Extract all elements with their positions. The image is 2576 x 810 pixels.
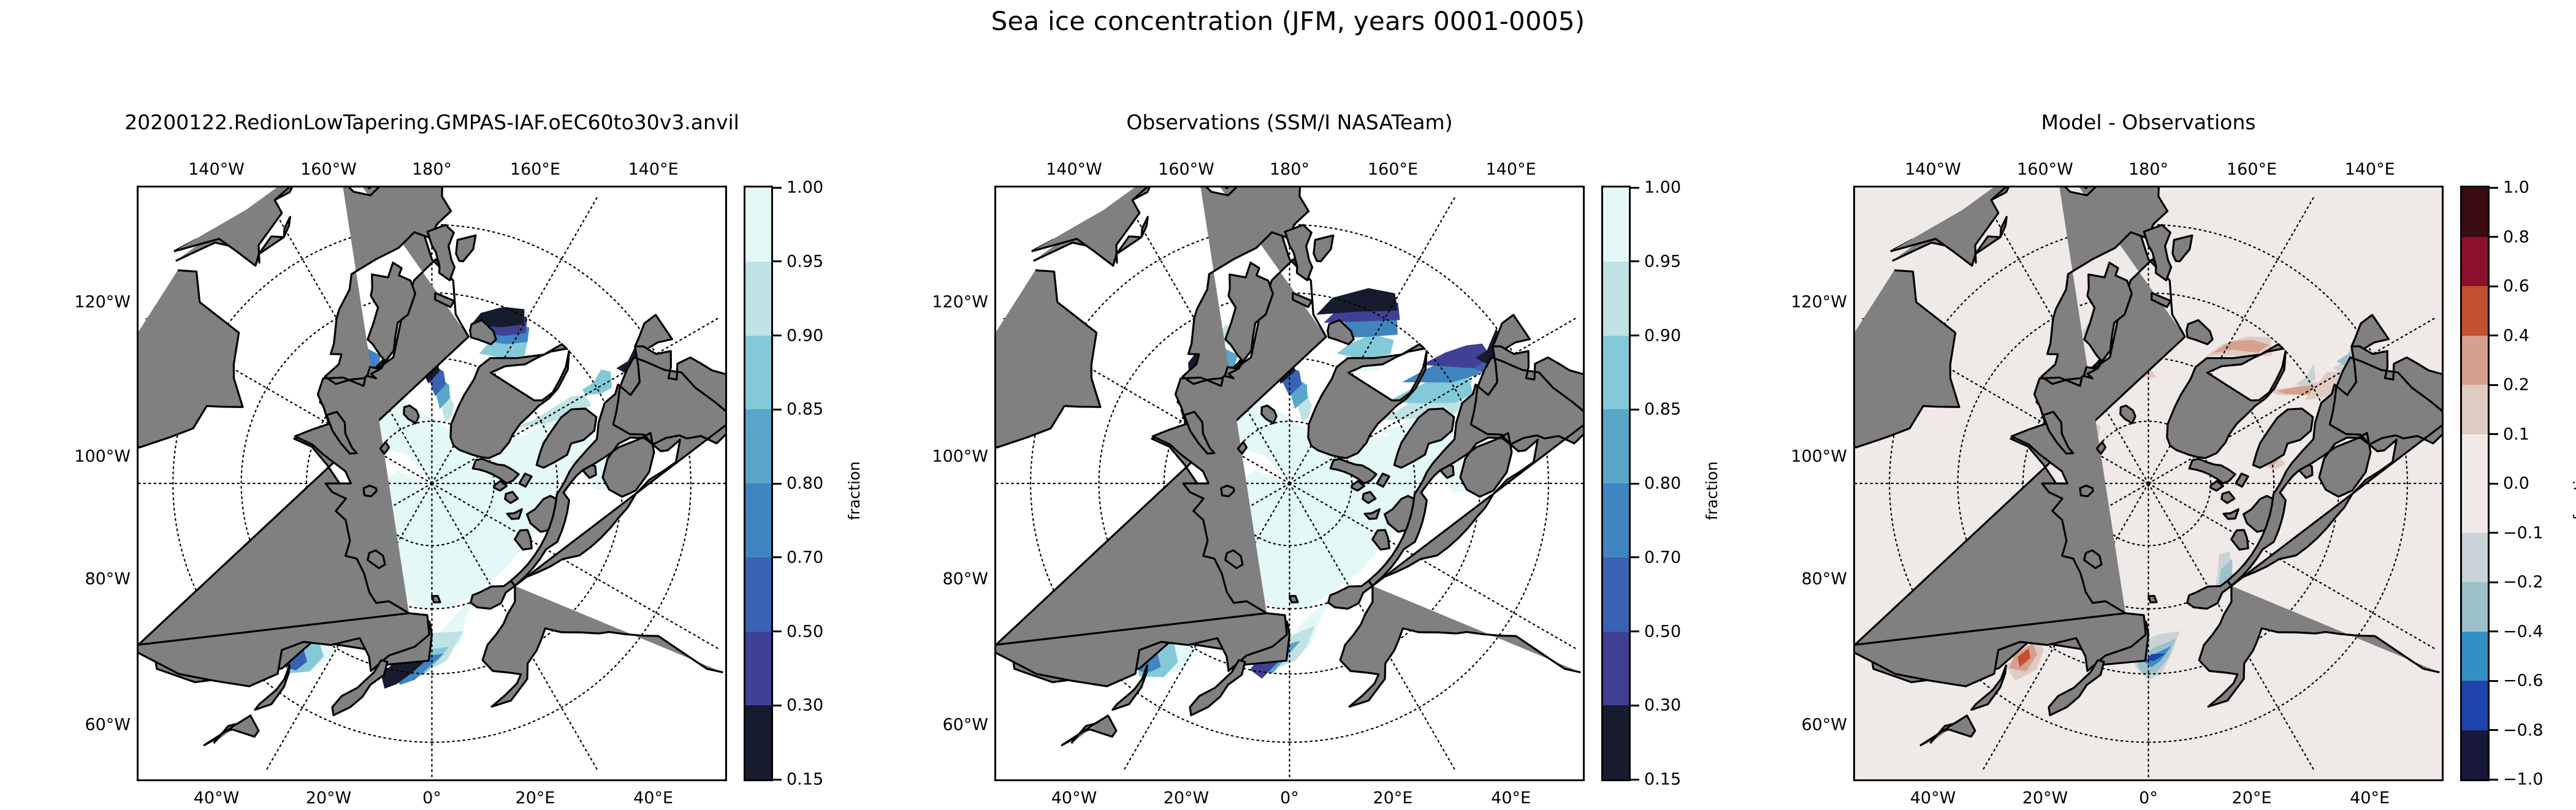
colorbar-tick: [2490, 483, 2498, 485]
colorbar-segment: [2462, 483, 2488, 533]
colorbar-segment: [1603, 262, 1629, 336]
colorbar-segment: [745, 483, 771, 558]
colorbar-segment: [745, 262, 771, 336]
lon-tick-bottom: 0°: [2139, 789, 2158, 808]
colorbar-tick: [2490, 335, 2498, 336]
colorbar-segment: [2462, 434, 2488, 484]
colorbar-tick-label: 1.00: [1644, 178, 1681, 197]
colorbar-observations: [1601, 186, 1631, 781]
colorbar-tick: [2490, 187, 2498, 189]
lon-tick-left: 100°W: [1764, 447, 1847, 466]
colorbar-tick: [773, 409, 782, 411]
lon-tick-top: 140°E: [2345, 160, 2395, 179]
colorbar-segment: [2462, 582, 2488, 632]
colorbar-tick-label: −1.0: [2503, 770, 2544, 789]
colorbar-tick: [773, 483, 782, 485]
colorbar-tick: [2490, 236, 2498, 238]
colorbar-tick-label: 0.2: [2503, 376, 2529, 395]
lon-tick-bottom: 40°W: [1051, 789, 1097, 808]
colorbar-tick-label: 0.15: [1644, 770, 1681, 789]
colorbar-tick-label: 0.8: [2503, 227, 2529, 246]
lon-tick-bottom: 40°E: [2350, 789, 2390, 808]
colorbar-tick-label: −0.1: [2503, 523, 2544, 542]
colorbar-segment: [1603, 558, 1629, 632]
colorbar-segment: [2462, 187, 2488, 237]
lon-tick-left: 100°W: [905, 447, 988, 466]
colorbar-difference: [2460, 186, 2490, 781]
colorbar-tick: [773, 630, 782, 632]
lon-tick-top: 140°E: [1486, 160, 1536, 179]
lon-tick-bottom: 20°W: [306, 789, 352, 808]
colorbar-segment: [1603, 705, 1629, 779]
colorbar-tick: [1631, 556, 1639, 558]
lon-tick-left: 100°W: [48, 447, 131, 466]
lon-tick-top: 160°E: [1368, 160, 1418, 179]
colorbar-tick-label: 0.70: [1644, 548, 1681, 567]
colorbar-tick: [1631, 630, 1639, 632]
colorbar-tick-label: 0.6: [2503, 277, 2529, 296]
lon-tick-top: 160°W: [2017, 160, 2073, 179]
lon-tick-top: 160°E: [2227, 160, 2277, 179]
map-difference[interactable]: [1853, 186, 2444, 781]
colorbar-segment: [2462, 632, 2488, 681]
colorbar-segment: [745, 632, 771, 706]
lon-tick-bottom: 0°: [1280, 789, 1299, 808]
colorbar-segment: [745, 336, 771, 410]
colorbar-tick: [773, 335, 782, 336]
colorbar-tick-label: −0.4: [2503, 622, 2544, 641]
colorbar-segment: [745, 409, 771, 483]
colorbar-tick-label: −0.8: [2503, 721, 2544, 740]
lon-tick-top: 180°: [1270, 160, 1309, 179]
colorbar-tick: [2490, 680, 2498, 682]
colorbar-tick-label: 1.0: [2503, 178, 2529, 197]
colorbar-tick: [1631, 779, 1639, 781]
colorbar-tick: [773, 705, 782, 706]
colorbar-tick: [2490, 581, 2498, 583]
colorbar-tick-label: 0.90: [1644, 326, 1681, 345]
lon-tick-bottom: 20°W: [2022, 789, 2068, 808]
colorbar-tick: [2490, 779, 2498, 781]
colorbar-tick: [2490, 729, 2498, 731]
colorbar-axis-label: fraction: [1703, 461, 1721, 520]
lon-tick-bottom: 20°E: [516, 789, 555, 808]
lon-tick-bottom: 40°W: [1910, 789, 1956, 808]
colorbar-segment: [745, 558, 771, 632]
lon-tick-bottom: 40°E: [1491, 789, 1531, 808]
colorbar-tick-label: 0.30: [1644, 696, 1681, 715]
panel-title-difference: Model - Observations: [2041, 110, 2255, 134]
colorbar-tick: [773, 187, 782, 189]
lon-tick-left: 120°W: [48, 292, 131, 311]
lon-tick-top: 160°W: [1158, 160, 1214, 179]
colorbar-tick-label: 0.85: [787, 400, 823, 419]
lon-tick-top: 180°: [2128, 160, 2168, 179]
colorbar-tick-label: 0.15: [787, 770, 823, 789]
colorbar-segment: [2462, 681, 2488, 730]
colorbar-segment: [745, 187, 771, 262]
colorbar-segment: [1603, 409, 1629, 483]
lon-tick-top: 140°W: [1046, 160, 1102, 179]
lon-tick-top: 160°W: [300, 160, 357, 179]
panel-title-model: 20200122.RedionLowTapering.GMPAS-IAF.oEC…: [124, 110, 739, 134]
colorbar-tick-label: 0.30: [787, 696, 823, 715]
colorbar-tick: [1631, 335, 1639, 336]
colorbar-tick-label: 0.50: [787, 622, 823, 641]
colorbar-segment: [1603, 483, 1629, 558]
colorbar-tick-label: 0.70: [787, 548, 823, 567]
colorbar-axis-label: fraction: [845, 461, 863, 520]
colorbar-segment: [745, 705, 771, 779]
colorbar-tick-label: 0.1: [2503, 425, 2529, 444]
figure-suptitle: Sea ice concentration (JFM, years 0001-0…: [0, 6, 2576, 36]
lon-tick-bottom: 20°E: [2232, 789, 2272, 808]
colorbar-segment: [2462, 237, 2488, 287]
lon-tick-left: 120°W: [1764, 292, 1847, 311]
colorbar-tick: [773, 556, 782, 558]
colorbar-segment: [1603, 632, 1629, 706]
colorbar-segment: [2462, 533, 2488, 583]
panel-title-observations: Observations (SSM/I NASATeam): [1126, 110, 1452, 134]
colorbar-segment: [2462, 336, 2488, 385]
lon-tick-left: 80°W: [48, 569, 131, 588]
lon-tick-left: 80°W: [905, 569, 988, 588]
colorbar-tick-label: 0.4: [2503, 326, 2529, 345]
colorbar-tick: [2490, 286, 2498, 287]
lon-tick-bottom: 40°W: [194, 789, 240, 808]
colorbar-tick: [1631, 409, 1639, 411]
colorbar-tick: [1631, 705, 1639, 706]
colorbar-tick-label: 0.95: [787, 252, 823, 271]
map-observations[interactable]: [994, 186, 1585, 781]
colorbar-segment: [1603, 187, 1629, 262]
colorbar-tick: [773, 260, 782, 262]
colorbar-segment: [1603, 336, 1629, 410]
colorbar-segment: [2462, 730, 2488, 780]
colorbar-tick-label: 0.95: [1644, 252, 1681, 271]
colorbar-tick-label: −0.6: [2503, 672, 2544, 691]
lon-tick-left: 60°W: [48, 715, 131, 734]
colorbar-segment: [2462, 385, 2488, 434]
lon-tick-left: 120°W: [905, 292, 988, 311]
colorbar-tick: [773, 779, 782, 781]
lon-tick-bottom: 20°E: [1373, 789, 1413, 808]
lon-tick-bottom: 0°: [422, 789, 441, 808]
lon-tick-bottom: 20°W: [1164, 789, 1210, 808]
colorbar-tick: [1631, 187, 1639, 189]
colorbar-tick-label: 0.80: [1644, 474, 1681, 493]
lon-tick-bottom: 40°E: [633, 789, 673, 808]
lon-tick-top: 140°E: [628, 160, 679, 179]
colorbar-tick-label: 0.80: [787, 474, 823, 493]
lon-tick-top: 180°: [412, 160, 452, 179]
colorbar-tick-label: 0.0: [2503, 474, 2529, 493]
map-model[interactable]: [137, 186, 727, 781]
lon-tick-top: 160°E: [510, 160, 560, 179]
colorbar-tick: [2490, 532, 2498, 534]
colorbar-tick-label: 1.00: [787, 178, 823, 197]
colorbar-tick: [1631, 260, 1639, 262]
colorbar-segment: [2462, 286, 2488, 336]
colorbar-tick-label: 0.90: [787, 326, 823, 345]
colorbar-tick: [2490, 384, 2498, 386]
colorbar-model: [744, 186, 773, 781]
colorbar-tick: [2490, 433, 2498, 435]
lon-tick-top: 140°W: [188, 160, 245, 179]
lon-tick-top: 140°W: [1905, 160, 1961, 179]
lon-tick-left: 60°W: [1764, 715, 1847, 734]
colorbar-axis-label: fraction: [2570, 461, 2576, 520]
colorbar-tick-label: 0.85: [1644, 400, 1681, 419]
lon-tick-left: 60°W: [905, 715, 988, 734]
colorbar-tick: [1631, 483, 1639, 485]
colorbar-tick: [2490, 630, 2498, 632]
colorbar-tick-label: 0.50: [1644, 622, 1681, 641]
lon-tick-left: 80°W: [1764, 569, 1847, 588]
colorbar-tick-label: −0.2: [2503, 573, 2544, 592]
